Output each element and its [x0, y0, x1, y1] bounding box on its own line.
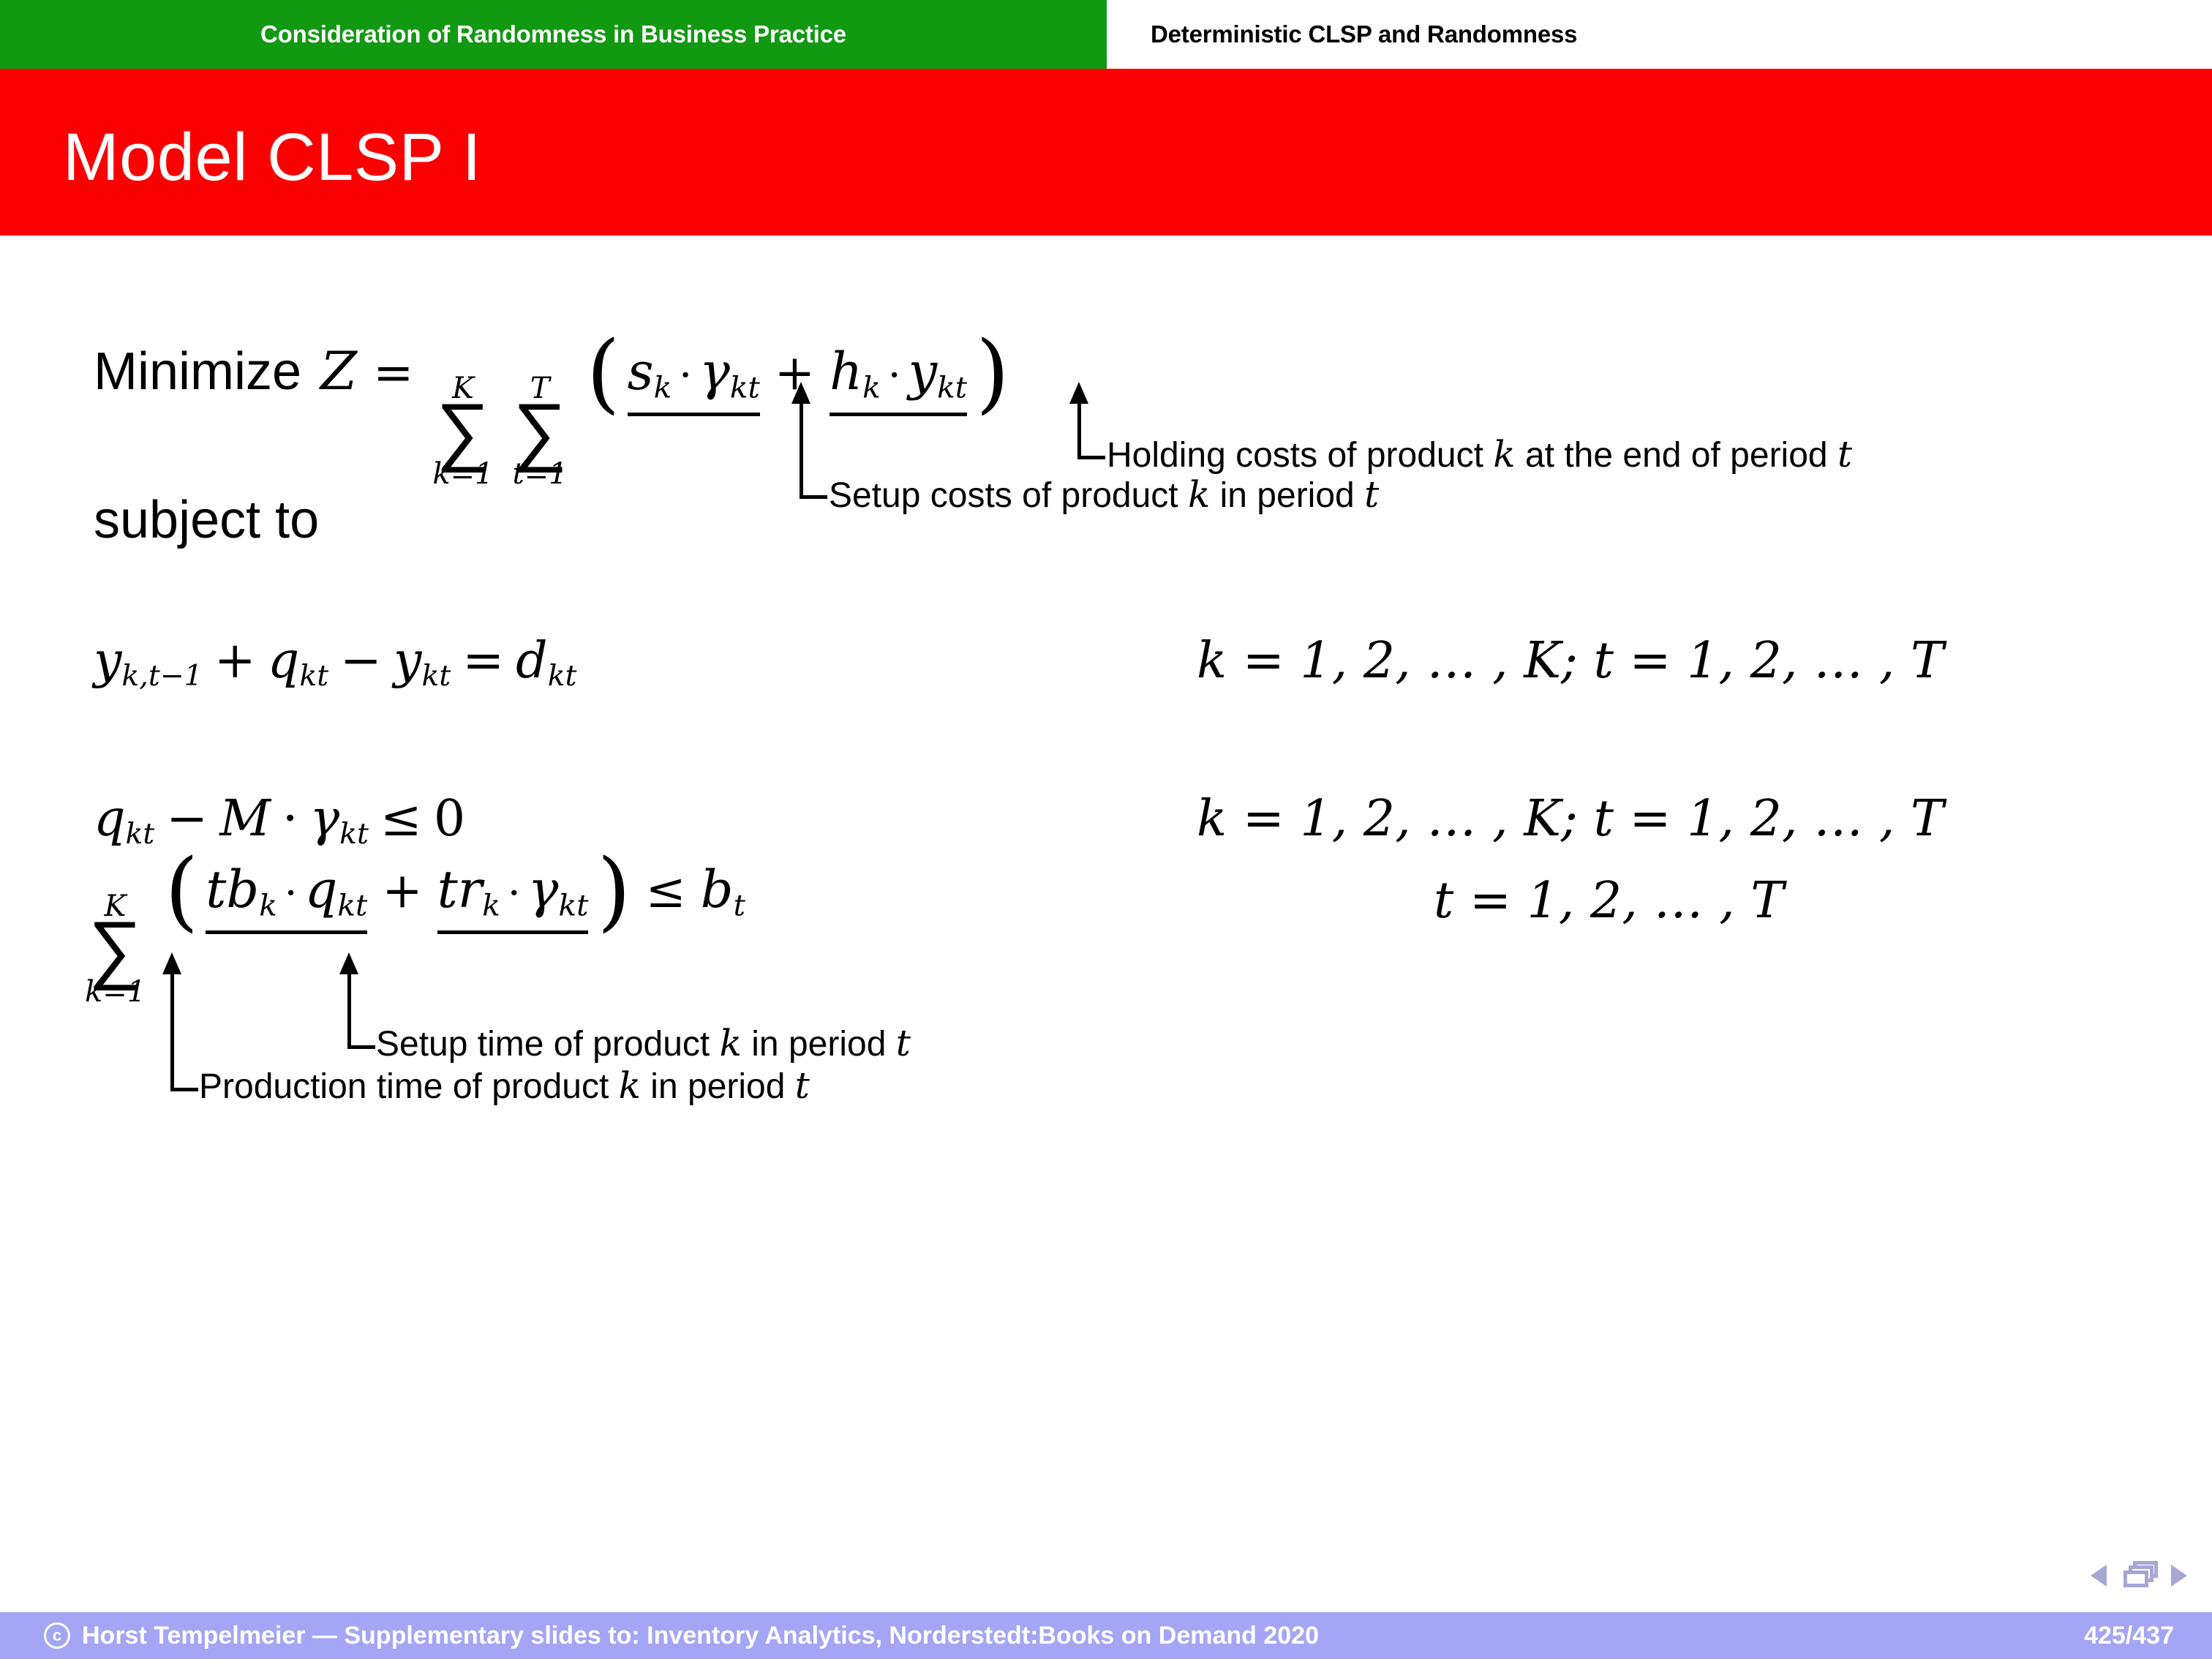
- subject-to-label: subject to: [94, 490, 319, 550]
- less-equal-operator: ≤: [645, 862, 685, 919]
- multiplication-dot: ·: [679, 352, 692, 399]
- paren-open: (: [587, 342, 620, 403]
- symbol-s: s: [628, 342, 654, 402]
- subscript-kt: kt: [730, 369, 760, 405]
- setup-cost-term: sk·γkt: [628, 346, 760, 416]
- symbol-gamma: γ: [528, 859, 559, 919]
- symbol-q: q: [268, 632, 300, 690]
- setup-cost-annotation-var-k: k: [1188, 473, 1210, 516]
- sum-lower-limit-k1: k=1: [432, 459, 493, 489]
- header-section-label: Consideration of Randomness in Business …: [260, 20, 846, 48]
- minus-operator: −: [340, 632, 382, 690]
- subscript-k: k: [259, 887, 277, 922]
- symbol-q: q: [94, 790, 126, 848]
- slide-stack-layer: [2123, 1570, 2148, 1587]
- symbol-gamma: γ: [699, 342, 730, 402]
- production-time-term: tbk·qkt: [206, 864, 367, 934]
- constraint-3-index-range: t = 1, 2, … , T: [1434, 872, 1784, 930]
- subscript-k: k: [654, 369, 672, 405]
- title-band: Model CLSP I: [0, 69, 2212, 236]
- symbol-tb: tb: [206, 859, 259, 919]
- header-section-tab[interactable]: Consideration of Randomness in Business …: [0, 0, 1107, 69]
- subscript-kt: kt: [339, 817, 369, 851]
- equals-operator: =: [462, 632, 504, 690]
- multiplication-dot: ·: [285, 870, 298, 917]
- production-time-annotation-pre: Production time of product: [199, 1067, 609, 1106]
- minimize-label: Minimize: [94, 342, 301, 402]
- constraint-2-index-range: k = 1, 2, … , K; t = 1, 2, … , T: [1197, 790, 1944, 848]
- subscript-k-t-1: k,t−1: [121, 659, 202, 693]
- page-number: 425/437: [2084, 1622, 2174, 1650]
- holding-cost-annotation-pre: Holding costs of product: [1107, 436, 1483, 475]
- header-subsection-label: Deterministic CLSP and Randomness: [1151, 20, 1577, 48]
- holding-cost-annotation-var-t: t: [1837, 433, 1852, 475]
- setup-time-annotation: Setup time of product k in period t: [376, 1022, 911, 1064]
- sum-over-periods: T ∑ t=1: [513, 374, 568, 489]
- header-subsection-tab[interactable]: Deterministic CLSP and Randomness: [1107, 0, 2212, 69]
- symbol-y: y: [94, 632, 121, 690]
- subscript-kt: kt: [299, 659, 328, 693]
- production-time-annotation-mid: in period: [650, 1067, 785, 1106]
- setup-time-annotation-var-t: t: [896, 1022, 911, 1064]
- setup-cost-annotation-var-t: t: [1364, 473, 1379, 516]
- subscript-kt: kt: [421, 659, 451, 693]
- setup-time-annotation-mid: in period: [751, 1025, 886, 1064]
- less-equal-operator: ≤: [380, 790, 422, 848]
- subscript-kt: kt: [558, 887, 588, 922]
- footer-credit-text: Horst Tempelmeier — Supplementary slides…: [82, 1622, 1319, 1650]
- page-title: Model CLSP I: [0, 124, 481, 191]
- sum-over-products: K ∑ k=1: [432, 374, 493, 489]
- subscript-t: t: [734, 887, 745, 922]
- holding-cost-annotation: Holding costs of product k at the end of…: [1107, 433, 1852, 475]
- sigma-icon: ∑: [513, 399, 567, 462]
- setup-cost-annotation: Setup costs of product k in period t: [829, 473, 1379, 516]
- symbol-bigM: M: [219, 790, 271, 848]
- sigma-icon: ∑: [436, 399, 490, 462]
- sum-lower-limit-t1: t=1: [513, 459, 568, 489]
- production-time-annotation: Production time of product k in period t: [199, 1064, 810, 1107]
- symbol-d: d: [516, 632, 548, 690]
- sigma-icon: ∑: [89, 917, 143, 980]
- subscript-kt: kt: [126, 817, 155, 851]
- triangle-right-icon[interactable]: [2171, 1565, 2187, 1587]
- plus-operator: +: [214, 632, 256, 690]
- slide-navigation[interactable]: [2091, 1557, 2187, 1595]
- paren-close: ): [597, 860, 631, 921]
- symbol-gamma: γ: [310, 790, 340, 848]
- setup-time-annotation-pre: Setup time of product: [376, 1025, 710, 1064]
- footer-bar: c Horst Tempelmeier — Supplementary slid…: [0, 1612, 2212, 1659]
- setup-time-term: trk·γkt: [437, 864, 589, 934]
- sum-over-products: K ∑ k=1: [85, 892, 146, 1007]
- constraint-inventory-balance: yk,t−1+qkt−ykt=dkt: [94, 632, 576, 693]
- constraint-1-index-range: k = 1, 2, … , K; t = 1, 2, … , T: [1197, 632, 1944, 690]
- multiplication-dot: ·: [508, 870, 521, 917]
- holding-cost-annotation-mid: at the end of period: [1525, 436, 1828, 475]
- header-bar: Consideration of Randomness in Business …: [0, 0, 2212, 69]
- paren-open: (: [165, 860, 198, 921]
- slide-stack-icon[interactable]: [2120, 1561, 2158, 1590]
- plus-operator: +: [382, 862, 422, 919]
- holding-cost-annotation-var-k: k: [1493, 433, 1515, 475]
- multiplication-dot: ·: [282, 790, 298, 848]
- capacity-rhs: bt: [701, 864, 745, 920]
- triangle-left-icon[interactable]: [2091, 1565, 2107, 1587]
- symbol-b: b: [701, 859, 734, 919]
- symbol-y: y: [394, 632, 421, 690]
- production-time-annotation-var-k: k: [619, 1064, 641, 1107]
- footer-credit: c Horst Tempelmeier — Supplementary slid…: [44, 1622, 1319, 1650]
- subscript-kt: kt: [337, 887, 367, 922]
- setup-time-annotation-var-k: k: [720, 1022, 742, 1064]
- symbol-q: q: [305, 859, 338, 919]
- constraint-setup-forcing: qkt−M·γkt≤0: [94, 790, 465, 851]
- objective-variable: Z: [320, 340, 357, 402]
- slide-body: Minimize Z = K ∑ k=1 T ∑ t=1 ( sk·γkt + …: [0, 236, 2212, 1545]
- objective-equals: =: [373, 345, 413, 401]
- setup-cost-annotation-mid: in period: [1220, 476, 1355, 515]
- setup-cost-annotation-pre: Setup costs of product: [829, 476, 1178, 515]
- symbol-tr: tr: [437, 859, 483, 919]
- sum-lower-limit-k1: k=1: [85, 977, 146, 1007]
- production-time-annotation-var-t: t: [795, 1064, 810, 1107]
- copyright-icon: c: [44, 1622, 70, 1649]
- value-zero: 0: [434, 790, 465, 848]
- subscript-kt: kt: [548, 659, 577, 693]
- subscript-k: k: [482, 887, 500, 922]
